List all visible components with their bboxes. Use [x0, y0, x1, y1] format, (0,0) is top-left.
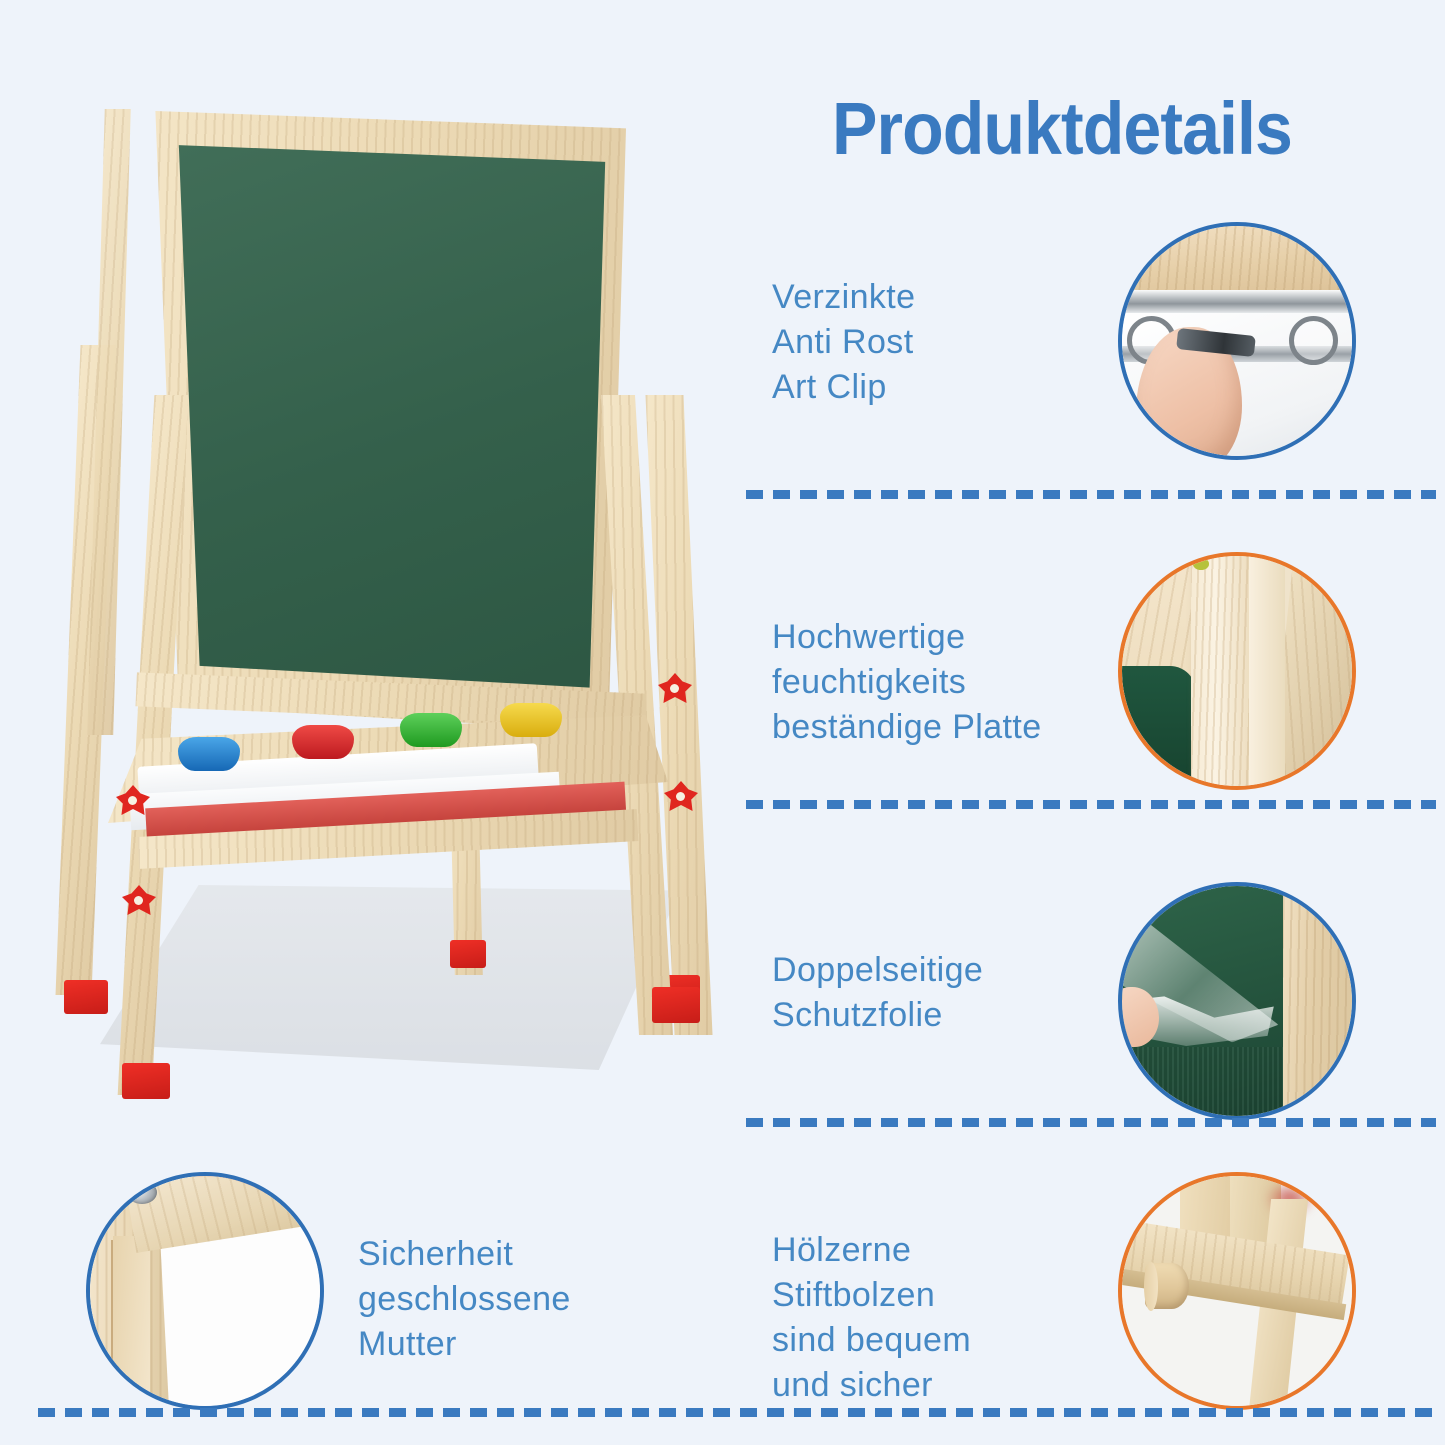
- red-paint-cup: [292, 725, 354, 759]
- wood-frame-board-photo: [1118, 552, 1356, 790]
- wooden-dowel-photo: [1118, 1172, 1356, 1410]
- blue-paint-cup: [178, 737, 240, 771]
- feature-text-safety-nut: Sicherheit geschlossene Mutter: [358, 1232, 698, 1367]
- divider-2: [746, 800, 1436, 809]
- divider-bottom: [38, 1408, 1436, 1417]
- divider-3: [746, 1118, 1436, 1127]
- infographic-canvas: Produktdetails: [0, 0, 1445, 1445]
- adjust-knob-right-lower: [664, 781, 698, 811]
- closed-nut-photo: [86, 1172, 324, 1410]
- art-clip-photo: [1118, 222, 1356, 460]
- front-right-foot: [652, 987, 700, 1023]
- front-left-foot: [122, 1063, 170, 1099]
- feature-text-art-clip: Verzinkte Anti Rost Art Clip: [772, 275, 1102, 410]
- protective-film-photo: [1118, 882, 1356, 1120]
- rear-left-foot: [64, 980, 108, 1014]
- feature-text-moisture-board: Hochwertige feuchtigkeits beständige Pla…: [772, 615, 1117, 750]
- yellow-paint-cup: [500, 703, 562, 737]
- feature-text-wooden-dowel: Hölzerne Stiftbolzen sind bequem und sic…: [772, 1228, 1102, 1408]
- green-paint-cup: [400, 713, 462, 747]
- adjust-knob-left-lower: [122, 885, 156, 915]
- adjust-knob-right-upper: [658, 673, 692, 703]
- center-rear-foot: [450, 940, 486, 968]
- feature-text-protective-film: Doppelseitige Schutzfolie: [772, 948, 1102, 1038]
- floor-shadow: [100, 885, 680, 1070]
- page-title: Produktdetails: [768, 86, 1357, 171]
- divider-1: [746, 490, 1436, 499]
- adjust-knob-left-upper: [116, 785, 150, 815]
- product-hero-image: [60, 95, 750, 1095]
